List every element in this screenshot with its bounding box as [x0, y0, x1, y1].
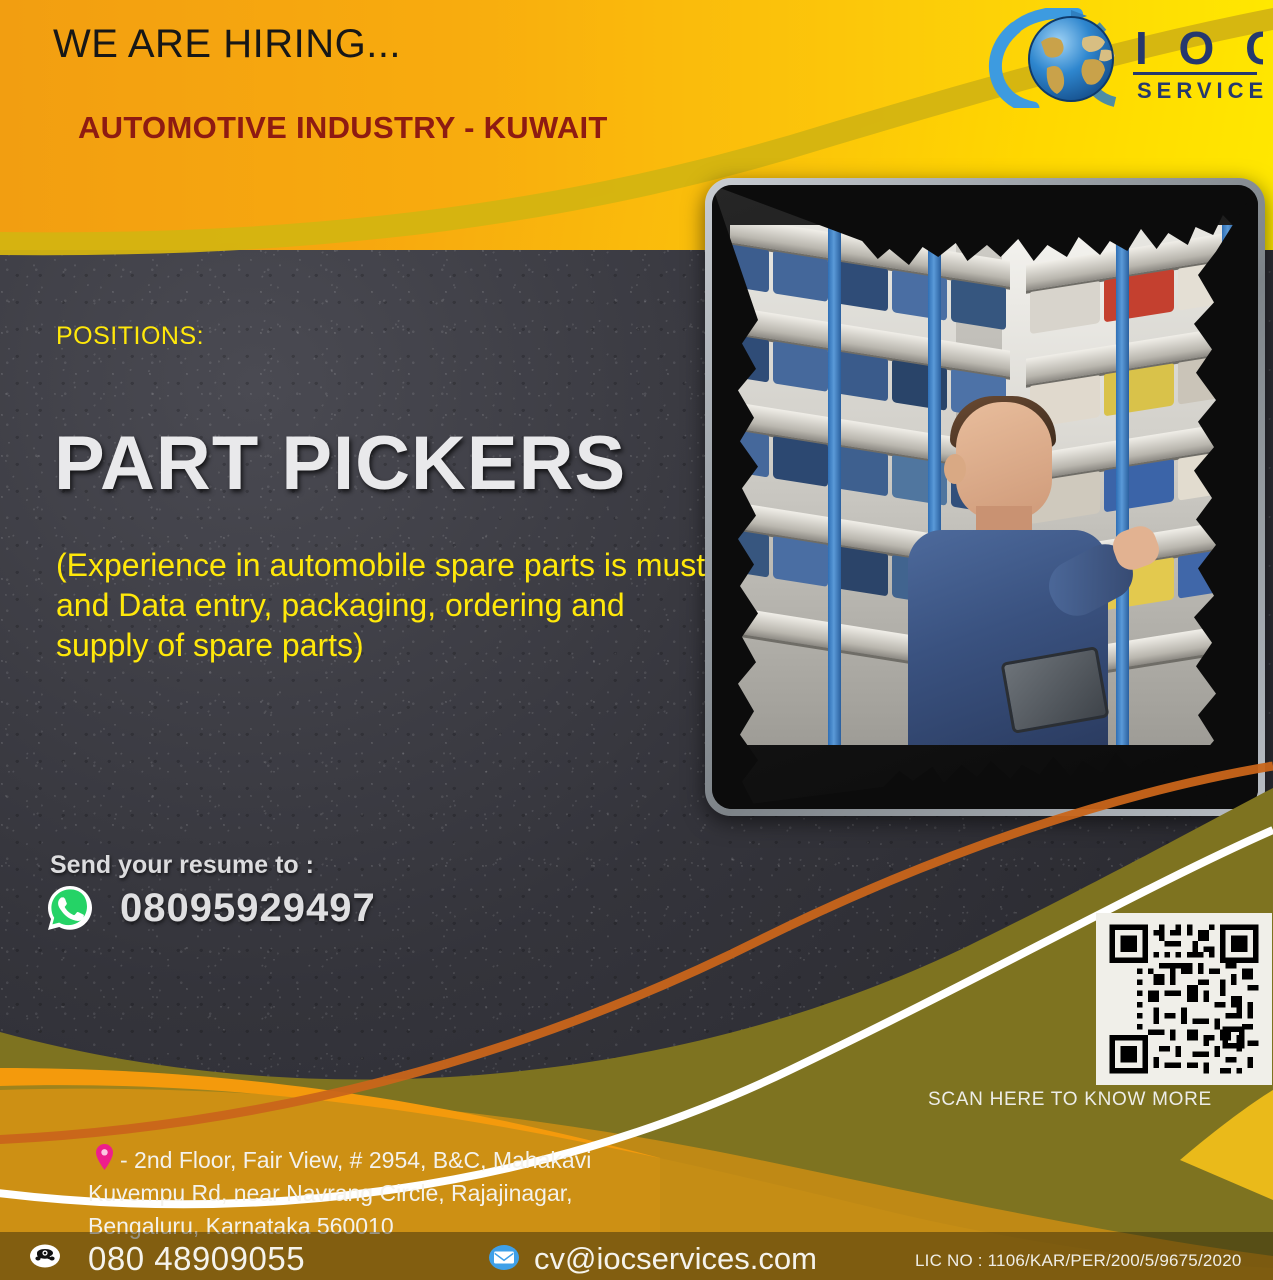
email-icon — [487, 1245, 521, 1270]
license-number: LIC NO : 1106/KAR/PER/200/5/9675/2020 — [915, 1251, 1242, 1271]
address-line-1: - 2nd Floor, Fair View, # 2954, B&C, Mah… — [88, 1144, 648, 1177]
photo-right-bleed — [1130, 240, 1273, 785]
office-address: - 2nd Floor, Fair View, # 2954, B&C, Mah… — [88, 1144, 648, 1243]
recruitment-poster: I O C SERVICES WE ARE HIRING... AUTOMOTI… — [0, 0, 1273, 1280]
footer-email[interactable]: cv@iocservices.com — [534, 1241, 817, 1277]
qr-code-matrix[interactable] — [1102, 919, 1266, 1079]
address-line-2: Kuvempu Rd, near Navrang Circle, Rajajin… — [88, 1177, 648, 1210]
qr-code[interactable] — [1096, 913, 1272, 1085]
decorative-waves — [0, 0, 1273, 1280]
footer-phone[interactable]: 080 48909055 — [88, 1240, 305, 1278]
telephone-icon — [30, 1244, 60, 1268]
scan-label: SCAN HERE TO KNOW MORE — [928, 1089, 1212, 1111]
